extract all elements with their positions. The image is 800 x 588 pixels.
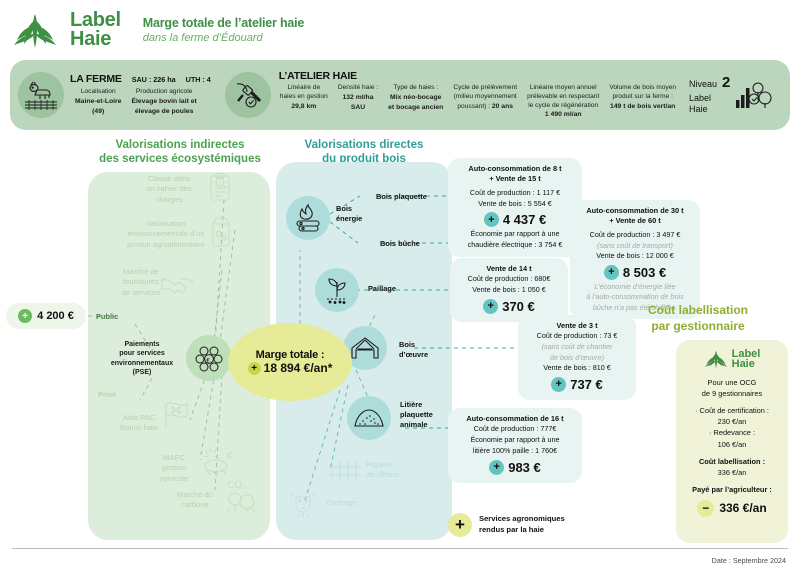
hedge-cell-lineaire: Linéaire dehaies en gestion29,8 km <box>275 84 333 112</box>
cow-head-icon <box>288 489 320 521</box>
node-label-paillage: Paillage <box>368 284 396 294</box>
marge-totale-bubble: Marge totale : + 18 894 €/an* <box>228 323 352 401</box>
card-litiere: Auto-consommation de 16 t Coût de produc… <box>448 408 582 483</box>
eco-item-label-valorisation: Valorisationenvironnementale d’unproduit… <box>118 219 214 250</box>
hedge-cell-lineaire-annuel: Linéaire moyen annuelprélevable en respe… <box>522 84 604 121</box>
cow-field-icon <box>18 72 64 118</box>
channel-public-label: Public <box>96 312 118 321</box>
services-line-2: rendus par la haie <box>479 525 565 536</box>
sprout-mulch-icon <box>315 268 359 312</box>
hedge-block: L’ATELIER HAIE Linéaire dehaies en gesti… <box>271 70 685 121</box>
marge-label: Marge totale : <box>256 349 325 361</box>
cost-panel-title: Coût labellisation par gestionnaire <box>600 303 796 334</box>
card-result-bois-buche: +8 503 € <box>578 265 692 280</box>
food-bag-icon <box>208 215 234 247</box>
eco-item-label-piquets: Piquets de clôture <box>366 460 399 480</box>
cost-panel: Label Haie Pour une OCG de 9 gestionnair… <box>676 340 788 543</box>
eu-flag-icon <box>160 398 192 430</box>
fence-posts-icon <box>327 458 363 484</box>
farm-sau: SAU : 226 ha <box>122 75 176 84</box>
card-result-litiere: +983 € <box>456 460 574 475</box>
logo-wordmark: Label Haie <box>70 11 121 49</box>
node-label-bois-energie: Bois énergie <box>336 204 362 224</box>
eco-item-label-marche-carbone: Marché ducarbone <box>168 490 222 511</box>
indirect-total-pill: + 4 200 € <box>6 303 86 329</box>
card-bois-buche: Auto-consommation de 30 t + Vente de 60 … <box>570 200 700 319</box>
cost-bullet-redevance-value: 106 €/an <box>682 439 782 450</box>
services-line-1: Services agronomiques <box>479 514 565 525</box>
clipboard-magnifier-icon <box>206 172 234 202</box>
channel-prive-label: Privé <box>98 390 116 399</box>
channel-label-bois-buche: Bois bûche <box>380 239 420 248</box>
footer-date: Date : Septembre 2024 <box>712 556 786 565</box>
cost-final-value: − 336 €/an <box>682 500 782 517</box>
indirect-section-title: Valorisations indirectes des services éc… <box>90 138 270 167</box>
handshake-icon <box>160 272 196 296</box>
cost-bullet-redevance-label: · Redevance : <box>682 427 782 438</box>
level-line-1: Niveau <box>689 79 717 90</box>
level-line-3: Haie <box>689 104 730 115</box>
farm-uth: UTH : 4 <box>176 75 211 84</box>
chart-trees-icon <box>734 78 774 112</box>
card-bois-plaquette: Auto-consommation de 8 t + Vente de 15 t… <box>448 158 582 257</box>
infographic-root: Label Haie Marge totale de l’atelier hai… <box>0 0 800 588</box>
eco-item-label-maec: MAECgestionsylvicole <box>146 453 202 484</box>
hedge-cell-densite: Densité haie :132 ml/haSAU <box>333 84 383 113</box>
card-paillage: Vente de 14 t Coût de production : 680€ … <box>450 258 568 322</box>
cost-intro-1: Pour une OCG <box>682 377 782 388</box>
logo-line-2: Haie <box>70 30 121 49</box>
cost-total-label: Coût labellisation : <box>682 456 782 467</box>
card-result-paillage: +370 € <box>458 299 560 314</box>
eco-item-label-pse: Paiements pour services environnementaux… <box>100 340 184 378</box>
indirect-total-value: 4 200 € <box>37 310 74 322</box>
plus-sign-indirect: + <box>18 309 32 323</box>
level-line-2: Label <box>689 93 730 104</box>
level-badge: Niveau 2 Label Haie <box>689 74 774 115</box>
card-result-bois-doeuvre: +737 € <box>526 377 628 392</box>
page-subtitle: dans la ferme d’Édouard <box>143 32 304 44</box>
cost-intro-2: de 9 gestionnaires <box>682 388 782 399</box>
node-label-bois-doeuvre: Bois d’œuvre <box>399 340 428 360</box>
services-agronomiques: + Services agronomiques rendus par la ha… <box>448 513 565 537</box>
farm-title: LA FERME <box>70 73 122 85</box>
label-haie-logo-icon-small <box>704 348 728 370</box>
plus-sign-services: + <box>448 513 472 537</box>
marge-value: + 18 894 €/an* <box>248 361 333 375</box>
hedge-euro-icon: € <box>200 444 238 482</box>
cost-paid-label: Payé par l’agriculteur : <box>682 484 782 495</box>
svg-text:€: € <box>227 451 233 462</box>
cost-bullet-certification-label: · Coût de certification : <box>682 405 782 416</box>
cost-bullet-certification-value: 230 €/an <box>682 416 782 427</box>
minus-sign: − <box>697 500 714 517</box>
node-label-litiere: Litière plaquette animale <box>400 400 433 430</box>
co2-trees-icon: CO₂ <box>224 478 258 514</box>
level-number: 2 <box>722 74 730 93</box>
footer-divider <box>12 548 788 549</box>
eco-item-label-clause: Clause dansun cahier descharges <box>134 174 204 205</box>
money-bundle-icon: € <box>186 335 232 381</box>
summary-infobar: LA FERME SAU : 226 ha UTH : 4 Localisati… <box>10 60 790 130</box>
eco-item-label-fourrage: Fourrage <box>326 498 357 508</box>
svg-text:CO₂: CO₂ <box>227 480 246 491</box>
page-header: Label Haie Marge totale de l’atelier hai… <box>12 10 304 50</box>
hedge-cell-volume: Volume de bois moyenproduit sur la ferme… <box>604 84 681 112</box>
cost-panel-logo: Label Haie <box>682 348 782 370</box>
cost-total-value: 336 €/an <box>682 467 782 478</box>
card-result-bois-plaquette: +4 437 € <box>456 212 574 227</box>
channel-label-bois-plaquette: Bois plaquette <box>376 192 427 201</box>
label-haie-logo-icon <box>12 10 58 50</box>
hedge-cell-cycle: Cycle de prélèvement(milieu moyennementp… <box>448 84 522 112</box>
woodchip-pile-icon <box>347 396 391 440</box>
farm-cell-production: Production agricole Élevage bovin lait e… <box>126 88 201 117</box>
chainsaw-check-icon <box>225 72 271 118</box>
page-title: Marge totale de l’atelier haie <box>143 16 304 30</box>
hedge-cell-type: Type de haies :Mix néo-bocageet bocage a… <box>383 84 448 113</box>
hedge-title: L’ATELIER HAIE <box>279 70 681 82</box>
firewood-flame-icon <box>286 196 330 240</box>
farm-block: LA FERME SAU : 226 ha UTH : 4 Localisati… <box>66 73 215 117</box>
farm-cell-localisation: Localisation Maine-et-Loire(49) <box>70 88 126 117</box>
